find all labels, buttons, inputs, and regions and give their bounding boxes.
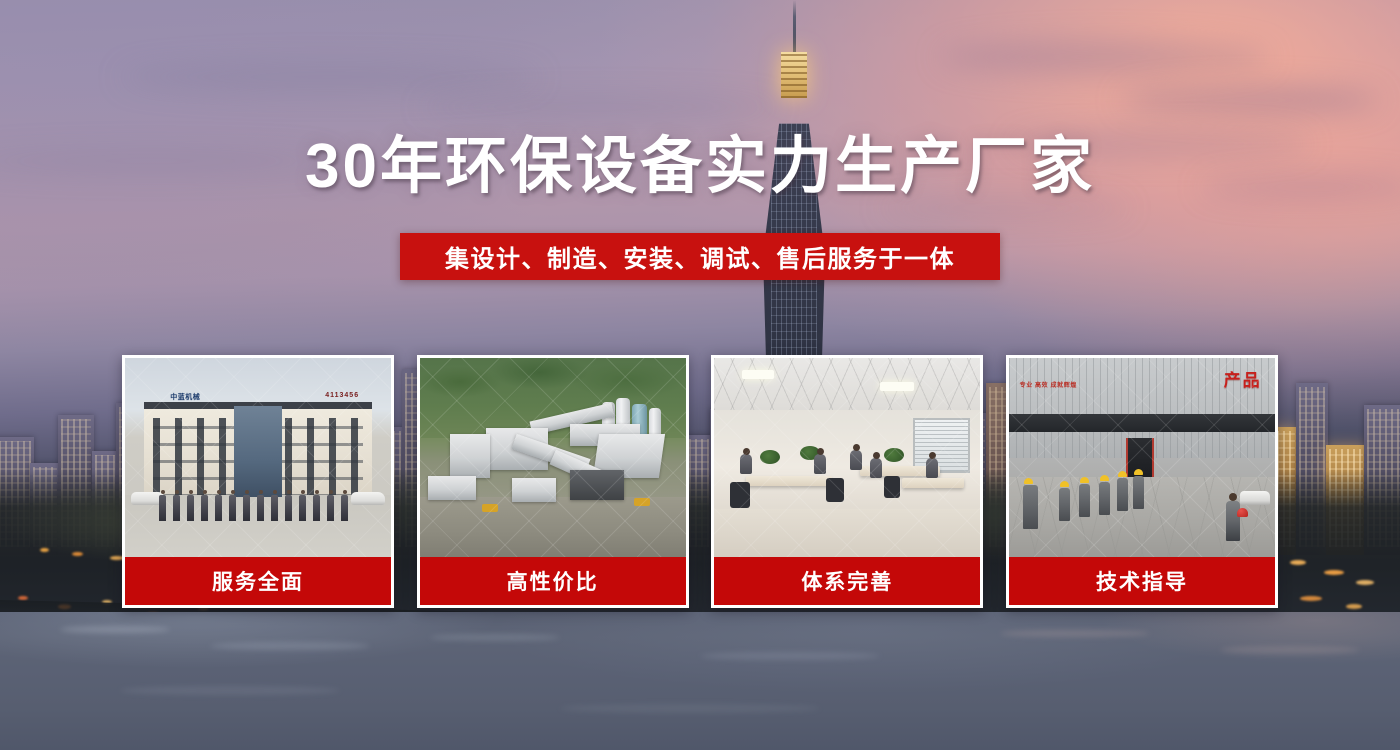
feature-card-value[interactable]: 高性价比 [417,355,689,608]
promo-banner: 30年环保设备实力生产厂家 集设计、制造、安装、调试、售后服务于一体 中蓝机械 … [0,0,1400,750]
subtitle-text: 集设计、制造、安装、调试、售后服务于一体 [445,239,955,274]
card-photo-factory-yard: 产品 专业 高效 成就辉煌 [1009,358,1275,557]
feature-card-row: 中蓝机械 4113456 [122,355,1278,608]
card-caption: 技术指导 [1009,557,1275,605]
building-sign-text: 中蓝机械 [170,392,200,402]
subtitle-banner: 集设计、制造、安装、调试、售后服务于一体 [400,233,1000,280]
card-caption: 高性价比 [420,557,686,605]
page-title: 30年环保设备实力生产厂家 [0,134,1400,201]
wall-sign-small: 专业 高效 成就辉煌 [1020,382,1077,391]
card-caption: 体系完善 [714,557,980,605]
wall-sign-large: 产品 [1224,366,1262,391]
feature-card-system[interactable]: 体系完善 [711,355,983,608]
building-phone-text: 4113456 [325,392,359,399]
card-caption: 服务全面 [125,557,391,605]
card-photo-office-interior [714,358,980,557]
card-photo-office-building: 中蓝机械 4113456 [125,358,391,557]
feature-card-guidance[interactable]: 产品 专业 高效 成就辉煌 技术指导 [1006,355,1278,608]
feature-card-service[interactable]: 中蓝机械 4113456 [122,355,394,608]
card-photo-industrial-plant [420,358,686,557]
river-water [0,612,1400,750]
